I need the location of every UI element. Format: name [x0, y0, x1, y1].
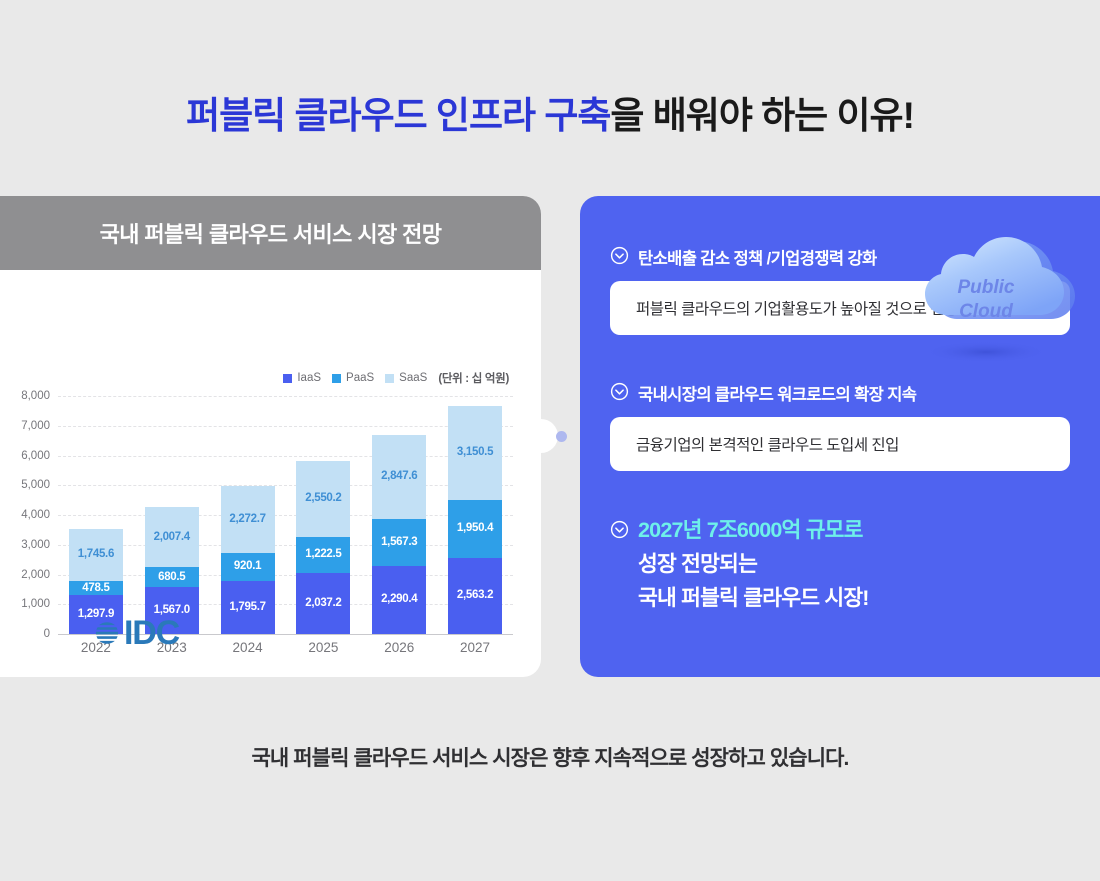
y-axis-tick: 6,000: [21, 450, 50, 462]
cloud-label-line1: Public: [957, 277, 1014, 298]
bar-column: 2,037.21,222.52,550.2: [285, 396, 361, 634]
chart-y-axis: 01,0002,0003,0004,0005,0006,0007,0008,00…: [0, 396, 56, 634]
bar-segment-iaas: 1,795.7: [221, 581, 275, 634]
legend-swatch-saas: [385, 374, 394, 383]
legend-label-iaas: IaaS: [297, 372, 321, 384]
footer-caption: 국내 퍼블릭 클라우드 서비스 시장은 향후 지속적으로 성장하고 있습니다.: [0, 742, 1100, 772]
reason-1-title: 탄소배출 감소 정책 /기업경쟁력 강화: [638, 245, 877, 269]
bar-segment-paas: 1,950.4: [448, 500, 502, 558]
y-axis-tick: 1,000: [21, 598, 50, 610]
legend-swatch-paas: [332, 374, 341, 383]
highlight-item: 2027년 7조6000억 규모로 성장 전망되는 국내 퍼블릭 클라우드 시장…: [610, 514, 869, 616]
bar-segment-paas: 478.5: [69, 581, 123, 595]
bar-stack: 2,290.41,567.32,847.6: [372, 435, 426, 634]
bar-segment-saas: 2,272.7: [221, 486, 275, 554]
carousel-dot[interactable]: [556, 431, 567, 442]
y-axis-tick: 3,000: [21, 539, 50, 551]
y-axis-tick: 5,000: [21, 479, 50, 491]
x-axis-tick: 2024: [210, 640, 286, 655]
card-notch: [524, 419, 558, 453]
legend-label-saas: SaaS: [399, 372, 427, 384]
bar-column: 1,567.0680.52,007.4: [134, 396, 210, 634]
legend-item-iaas: IaaS: [283, 372, 321, 384]
reason-item-2: 국내시장의 클라우드 워크로드의 확장 지속 금융기업의 본격적인 클라우드 도…: [610, 381, 1070, 471]
check-circle-icon: [610, 382, 629, 401]
legend-label-paas: PaaS: [346, 372, 374, 384]
legend-swatch-iaas: [283, 374, 292, 383]
bar-column: 2,290.41,567.32,847.6: [361, 396, 437, 634]
bar-stack: 2,563.21,950.43,150.5: [448, 406, 502, 634]
idc-wordmark: IDC: [124, 616, 179, 650]
page-title: 퍼블릭 클라우드 인프라 구축을 배워야 하는 이유!: [0, 93, 1100, 139]
cloud-shadow: [922, 341, 1050, 363]
bar-column: 1,795.7920.12,272.7: [210, 396, 286, 634]
check-circle-icon: [610, 246, 629, 265]
public-cloud-illustration: Public Cloud: [890, 221, 1080, 371]
highlight-lines: 2027년 7조6000억 규모로 성장 전망되는 국내 퍼블릭 클라우드 시장…: [638, 514, 869, 616]
y-axis-tick: 7,000: [21, 420, 50, 432]
bar-segment-paas: 920.1: [221, 553, 275, 580]
y-axis-tick: 2,000: [21, 569, 50, 581]
bar-segment-paas: 1,222.5: [296, 537, 350, 573]
legend-item-saas: SaaS: [385, 372, 427, 384]
idc-logo: IDC: [92, 616, 179, 650]
y-axis-tick: 4,000: [21, 509, 50, 521]
bar-segment-saas: 3,150.5: [448, 406, 502, 500]
reasons-panel: 탄소배출 감소 정책 /기업경쟁력 강화 퍼블릭 클라우드의 기업활용도가 높아…: [580, 196, 1100, 677]
page-title-rest: 을 배워야 하는 이유!: [610, 95, 913, 136]
chart-bars: 1,297.9478.51,745.61,567.0680.52,007.41,…: [58, 396, 513, 634]
bar-segment-paas: 1,567.3: [372, 519, 426, 566]
chart-unit-note: (단위 : 십 억원): [438, 370, 509, 386]
y-axis-tick: 8,000: [21, 390, 50, 402]
bar-stack: 2,037.21,222.52,550.2: [296, 461, 350, 634]
reason-2-title: 국내시장의 클라우드 워크로드의 확장 지속: [638, 381, 916, 405]
reason-2-detail-box: 금융기업의 본격적인 클라우드 도입세 진입: [610, 417, 1070, 471]
page-root: 퍼블릭 클라우드 인프라 구축을 배워야 하는 이유! 국내 퍼블릭 클라우드 …: [0, 0, 1100, 881]
bar-segment-saas: 2,007.4: [145, 507, 199, 567]
bar-segment-iaas: 2,563.2: [448, 558, 502, 634]
globe-icon: [92, 618, 122, 648]
legend-item-paas: PaaS: [332, 372, 374, 384]
reason-2-detail-text: 금융기업의 본격적인 클라우드 도입세 진입: [636, 433, 899, 455]
bar-segment-iaas: 2,037.2: [296, 573, 350, 634]
cloud-label-line2: Cloud: [959, 301, 1013, 322]
bar-segment-saas: 1,745.6: [69, 529, 123, 581]
bar-segment-iaas: 2,290.4: [372, 566, 426, 634]
page-title-accent: 퍼블릭 클라우드 인프라 구축: [186, 95, 610, 136]
x-axis-tick: 2026: [361, 640, 437, 655]
bar-stack: 1,795.7920.12,272.7: [221, 486, 275, 634]
bar-segment-paas: 680.5: [145, 567, 199, 587]
bar-column: 1,297.9478.51,745.6: [58, 396, 134, 634]
highlight-line-2: 성장 전망되는: [638, 548, 869, 582]
y-axis-tick: 0: [44, 628, 50, 640]
bar-column: 2,563.21,950.43,150.5: [437, 396, 513, 634]
bar-segment-saas: 2,847.6: [372, 435, 426, 520]
chart-card: 국내 퍼블릭 클라우드 서비스 시장 전망 IaaS PaaS SaaS (단위…: [0, 196, 541, 677]
chart-header-title: 국내 퍼블릭 클라우드 서비스 시장 전망: [100, 217, 442, 249]
bar-segment-saas: 2,550.2: [296, 461, 350, 537]
highlight-line-1: 2027년 7조6000억 규모로: [638, 514, 869, 548]
chart-body: IaaS PaaS SaaS (단위 : 십 억원) 01,0002,0003,…: [0, 270, 541, 677]
chart-plot-area: 01,0002,0003,0004,0005,0006,0007,0008,00…: [0, 396, 541, 641]
highlight-line-3: 국내 퍼블릭 클라우드 시장!: [638, 582, 869, 616]
x-axis-tick: 2025: [285, 640, 361, 655]
reason-2-head: 국내시장의 클라우드 워크로드의 확장 지속: [610, 381, 1070, 405]
chart-card-header: 국내 퍼블릭 클라우드 서비스 시장 전망: [0, 196, 541, 270]
x-axis-tick: 2027: [437, 640, 513, 655]
chart-legend: IaaS PaaS SaaS (단위 : 십 억원): [283, 370, 509, 386]
check-circle-icon: [610, 520, 629, 539]
